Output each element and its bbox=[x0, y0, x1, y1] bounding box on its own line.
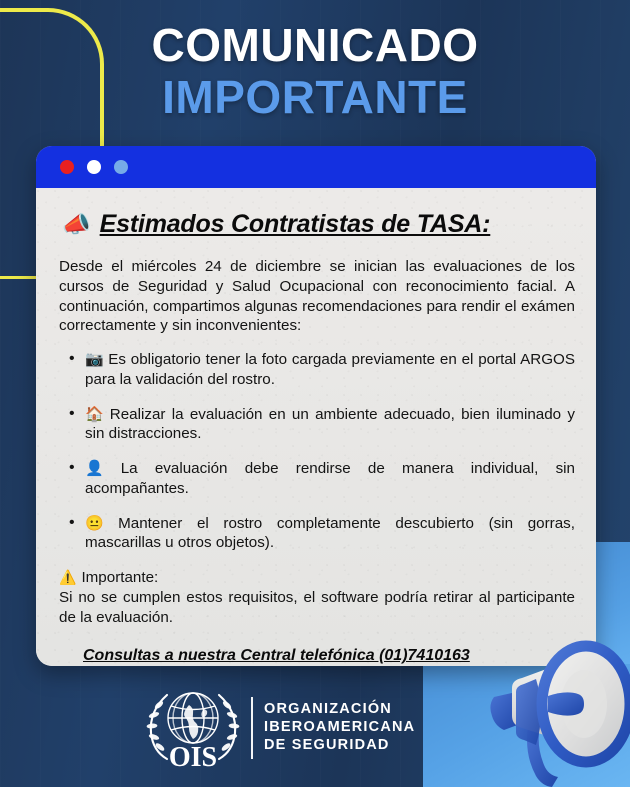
megaphone-icon: 📣 bbox=[62, 213, 91, 236]
list-item-text: Mantener el rostro completamente descubi… bbox=[85, 515, 575, 552]
list-item-text: Realizar la evaluación en un ambiente ad… bbox=[85, 406, 575, 443]
logo-divider bbox=[251, 697, 253, 759]
announcement-card: 📣 Estimados Contratistas de TASA: Desde … bbox=[36, 146, 596, 666]
headline-line-2: IMPORTANTE bbox=[0, 74, 630, 120]
org-line-2: IBEROAMERICANA bbox=[264, 719, 415, 737]
card-heading-text: Estimados Contratistas de TASA: bbox=[100, 210, 491, 239]
close-dot-icon[interactable] bbox=[60, 160, 74, 174]
card-heading: 📣 Estimados Contratistas de TASA: bbox=[62, 210, 577, 239]
ois-globe-laurel-icon: OIS bbox=[137, 685, 249, 771]
important-note: ⚠️Importante: Si no se cumplen estos req… bbox=[59, 568, 575, 627]
intro-paragraph: Desde el miércoles 24 de diciembre se in… bbox=[59, 257, 575, 336]
recommendations-list: 📷Es obligatorio tener la foto cargada pr… bbox=[61, 350, 575, 553]
list-item: 📷Es obligatorio tener la foto cargada pr… bbox=[85, 350, 575, 390]
person-icon: 👤 bbox=[85, 460, 117, 477]
blue-panel-lower bbox=[423, 664, 630, 787]
list-item-text: Es obligatorio tener la foto cargada pre… bbox=[85, 351, 575, 388]
organization-name: ORGANIZACIÓN IBEROAMERICANA DE SEGURIDAD bbox=[264, 701, 415, 754]
blue-panel-upper bbox=[595, 542, 630, 667]
organization-logo: OIS ORGANIZACIÓN IBEROAMERICANA DE SEGUR… bbox=[137, 685, 415, 771]
poster-canvas: COMUNICADO IMPORTANTE 📣 Estimados Contra… bbox=[0, 0, 630, 787]
warning-icon: ⚠️ bbox=[59, 569, 76, 585]
window-titlebar bbox=[36, 146, 596, 188]
org-line-1: ORGANIZACIÓN bbox=[264, 701, 415, 719]
important-note-text: Si no se cumplen estos requisitos, el so… bbox=[59, 589, 575, 626]
maximize-dot-icon[interactable] bbox=[114, 160, 128, 174]
important-note-label: Importante: bbox=[81, 569, 158, 586]
headline-line-1: COMUNICADO bbox=[0, 22, 630, 68]
minimize-dot-icon[interactable] bbox=[87, 160, 101, 174]
list-item: 😐Mantener el rostro completamente descub… bbox=[85, 514, 575, 554]
list-item: 👤La evaluación debe rendirse de manera i… bbox=[85, 459, 575, 499]
org-line-3: DE SEGURIDAD bbox=[264, 737, 415, 755]
card-body: 📣 Estimados Contratistas de TASA: Desde … bbox=[36, 188, 596, 666]
list-item-text: La evaluación debe rendirse de manera in… bbox=[85, 460, 575, 497]
logo-acronym: OIS bbox=[169, 742, 217, 771]
contact-line[interactable]: Consultas a nuestra Central telefónica (… bbox=[83, 647, 577, 665]
house-icon: 🏠 bbox=[85, 406, 106, 423]
camera-icon: 📷 bbox=[85, 351, 104, 368]
list-item: 🏠Realizar la evaluación en un ambiente a… bbox=[85, 405, 575, 445]
page-title: COMUNICADO IMPORTANTE bbox=[0, 22, 630, 120]
neutral-face-icon: 😐 bbox=[85, 515, 114, 532]
